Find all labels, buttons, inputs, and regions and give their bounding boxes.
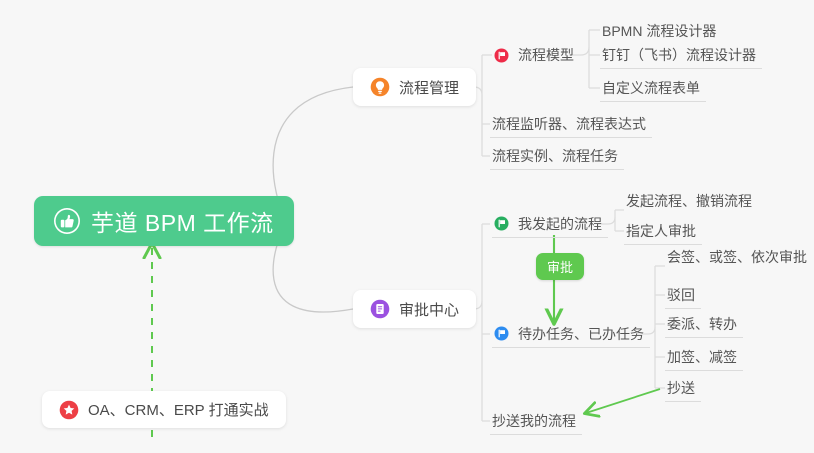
root-label: 芋道 BPM 工作流 <box>91 204 274 238</box>
node-cc-to-me-process[interactable]: 抄送我的流程 <box>490 407 582 435</box>
label-start-cancel-process: 发起流程、撤销流程 <box>626 191 752 211</box>
node-reject[interactable]: 驳回 <box>665 281 701 309</box>
node-my-initiated-process[interactable]: 我发起的流程 <box>492 210 608 238</box>
label-custom-process-form: 自定义流程表单 <box>602 78 700 98</box>
flag-blue-icon <box>494 326 509 341</box>
node-assignee-approval[interactable]: 指定人审批 <box>624 217 702 245</box>
label-todo-done-task: 待办任务、已办任务 <box>518 324 644 344</box>
footnote-label: OA、CRM、ERP 打通实战 <box>88 399 269 420</box>
label-my-initiated-process: 我发起的流程 <box>518 214 602 234</box>
flag-red-icon <box>494 48 509 63</box>
branch-label-approval-center: 审批中心 <box>399 299 459 320</box>
label-bpmn-designer: BPMN 流程设计器 <box>602 21 716 41</box>
edge-root-to-process-management <box>273 87 353 209</box>
label-process-listener-expression: 流程监听器、流程表达式 <box>492 114 646 134</box>
label-carbon-copy: 抄送 <box>667 378 695 398</box>
branch-label-process-management: 流程管理 <box>399 77 459 98</box>
node-process-model[interactable]: 流程模型 <box>492 41 580 69</box>
node-custom-process-form[interactable]: 自定义流程表单 <box>600 74 706 102</box>
branch-process-management[interactable]: 流程管理 <box>353 68 476 106</box>
label-delegate-transfer: 委派、转办 <box>667 314 737 334</box>
label-reject: 驳回 <box>667 285 695 305</box>
node-start-cancel-process[interactable]: 发起流程、撤销流程 <box>624 186 758 214</box>
footnote-node[interactable]: OA、CRM、ERP 打通实战 <box>42 391 286 428</box>
label-dingtalk-feishu-designer: 钉钉（飞书）流程设计器 <box>602 45 756 65</box>
node-delegate-transfer[interactable]: 委派、转办 <box>665 310 743 338</box>
node-todo-done-task[interactable]: 待办任务、已办任务 <box>492 320 650 348</box>
node-carbon-copy[interactable]: 抄送 <box>665 374 701 402</box>
approval-badge-label: 审批 <box>547 257 573 276</box>
doc-purple-icon <box>370 299 390 319</box>
cc-flow-arrow <box>586 389 660 413</box>
flag-green-icon <box>494 216 509 231</box>
label-process-model: 流程模型 <box>518 45 574 65</box>
label-process-instance-task: 流程实例、流程任务 <box>492 146 618 166</box>
node-bpmn-designer[interactable]: BPMN 流程设计器 <box>600 16 722 44</box>
branch-approval-center[interactable]: 审批中心 <box>353 290 476 328</box>
node-dingtalk-feishu-designer[interactable]: 钉钉（飞书）流程设计器 <box>600 41 762 69</box>
star-icon <box>59 400 79 420</box>
thumbs-up-icon <box>54 208 80 234</box>
node-process-listener-expression[interactable]: 流程监听器、流程表达式 <box>490 110 652 138</box>
label-countersign-orsign-sequential: 会签、或签、依次审批 <box>667 247 807 267</box>
label-add-remove-sign: 加签、减签 <box>667 347 737 367</box>
label-cc-to-me-process: 抄送我的流程 <box>492 411 576 431</box>
node-process-instance-task[interactable]: 流程实例、流程任务 <box>490 142 624 170</box>
lightbulb-icon <box>370 77 390 97</box>
root-node[interactable]: 芋道 BPM 工作流 <box>34 196 294 246</box>
approval-badge: 审批 <box>536 253 584 280</box>
mindmap-canvas: 芋道 BPM 工作流 OA、CRM、ERP 打通实战 流程管理 <box>0 0 814 453</box>
node-countersign-orsign-sequential[interactable]: 会签、或签、依次审批 <box>665 242 813 270</box>
label-assignee-approval: 指定人审批 <box>626 221 696 241</box>
node-add-remove-sign[interactable]: 加签、减签 <box>665 343 743 371</box>
